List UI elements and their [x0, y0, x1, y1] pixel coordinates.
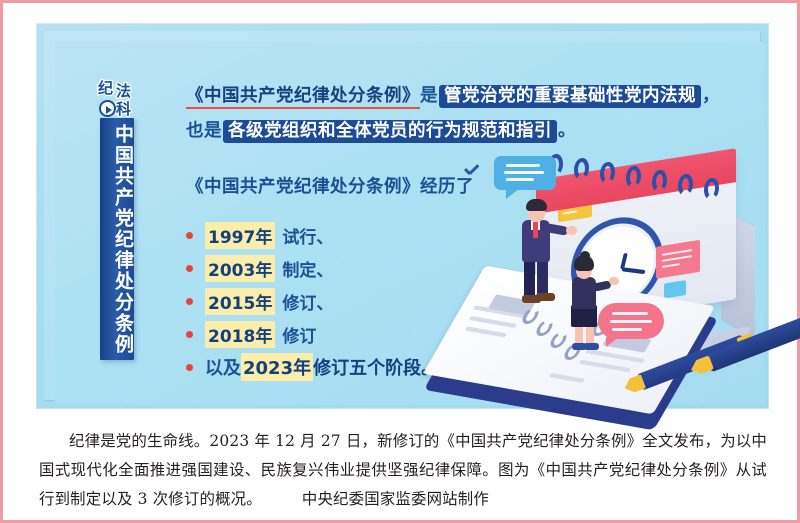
intro-connector-1: 是 — [420, 86, 438, 106]
banner-vertical-title: 中国共产党纪律处分条例 — [100, 124, 134, 355]
logo-char-2: 法 — [116, 84, 131, 99]
clock-hour-hand — [621, 267, 645, 274]
intro-line-2: 也是各级党组织和全体党员的行为规范和指引。 — [186, 116, 786, 146]
regulation-title-1: 《中国共产党纪律处分条例》 — [186, 86, 420, 109]
phase-action: 试行、 — [282, 223, 333, 248]
banner-strip: 中国共产党纪律处分条例 — [100, 118, 134, 360]
intro-line-1: 《中国共产党纪律处分条例》是管党治党的重要基础性党内法规， — [186, 81, 786, 111]
caption-block: 纪律是党的生命线。2023 年 12 月 27 日，新修订的《中国共产党纪律处分… — [39, 427, 767, 514]
bullet-dot-icon — [186, 298, 193, 305]
phase-year: 2003年 — [205, 255, 275, 282]
phase-year: 2015年 — [205, 288, 275, 315]
businesswoman-figure — [566, 251, 606, 347]
intro-highlight-1: 管党治党的重要基础性党内法规 — [439, 85, 701, 108]
speech-bubble-blue — [494, 156, 556, 190]
calendar-note-blue — [664, 280, 686, 298]
play-circle-icon — [99, 100, 116, 117]
phase-year: 2018年 — [205, 321, 275, 348]
intro-line2-end: 。 — [558, 121, 576, 141]
intro-connector-2: 也是 — [186, 121, 222, 141]
phase-year: 1997年 — [205, 222, 275, 249]
phase-final-lead: 以及 — [205, 354, 241, 380]
intro-line1-end: ， — [702, 86, 720, 106]
phase-final-year: 2023年 — [241, 353, 313, 381]
vertical-title-banner: 纪 法 科 中国共产党纪律处分条例 — [100, 80, 136, 360]
infographic-panel: 纪 法 科 中国共产党纪律处分条例 《中国共产党纪律处分条例》是管党治党的重要基… — [36, 23, 769, 409]
bullet-dot-icon — [186, 364, 193, 371]
caption-credit: 中央纪委国家监委网站制作 — [302, 490, 489, 508]
phase-action: 修订 — [282, 322, 316, 347]
intro-highlight-2: 各级党组织和全体党员的行为规范和指引 — [223, 120, 557, 143]
bullet-dot-icon — [186, 265, 193, 272]
isometric-illustration — [466, 158, 786, 420]
logo-char-1: 纪 — [98, 81, 113, 96]
speech-bubble-pink — [598, 303, 664, 339]
calendar-note-pink — [656, 240, 700, 279]
businessman-figure — [514, 193, 560, 303]
phase-final-tail: 修订五个阶段。 — [313, 354, 439, 380]
bullet-dot-icon — [186, 331, 193, 338]
phase-action: 修订、 — [282, 289, 333, 314]
bullet-dot-icon — [186, 232, 193, 239]
phase-action: 制定、 — [282, 256, 333, 281]
checkmark-icon — [464, 164, 478, 178]
logo-char-3: 科 — [116, 102, 131, 117]
page-root: 纪 法 科 中国共产党纪律处分条例 《中国共产党纪律处分条例》是管党治党的重要基… — [0, 0, 800, 523]
